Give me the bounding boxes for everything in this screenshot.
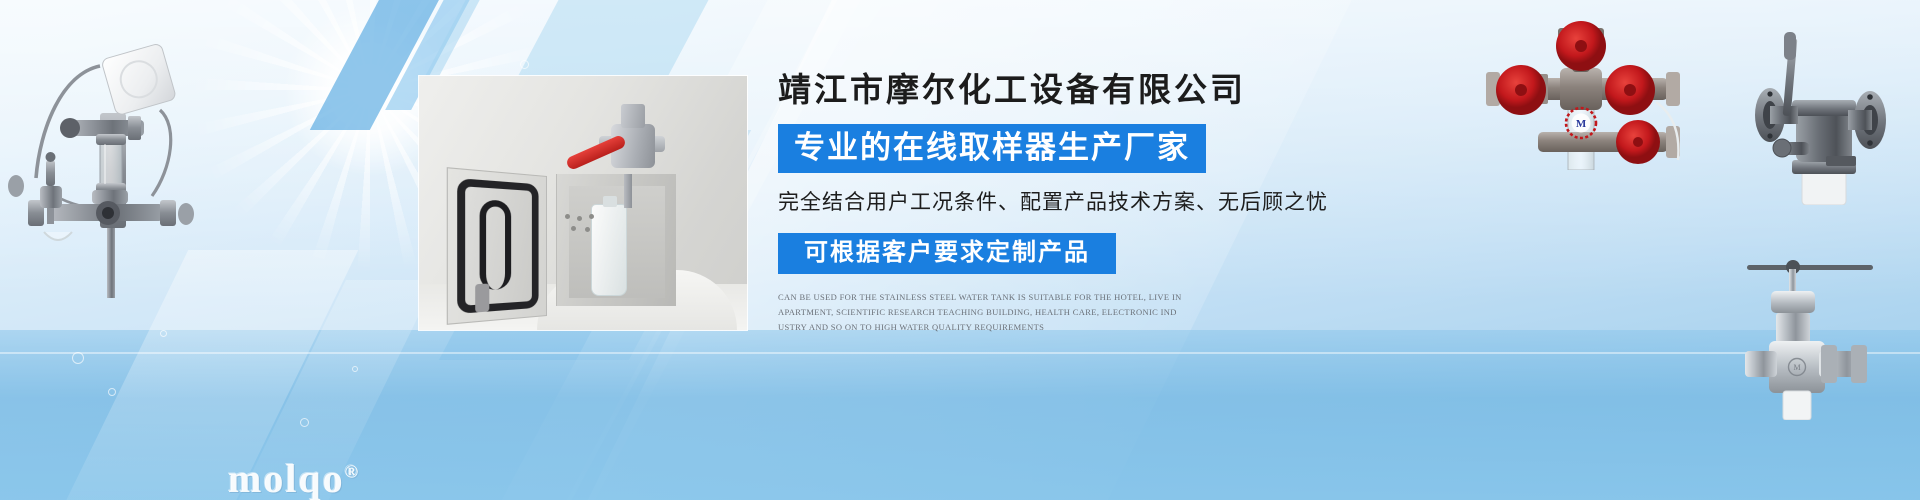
banner-text-block: 靖江市摩尔化工设备有限公司 专业的在线取样器生产厂家 完全结合用户工况条件、配置… bbox=[778, 72, 1398, 335]
cabinet-vent-holes bbox=[565, 214, 599, 234]
bubble-icon bbox=[520, 60, 529, 69]
sampler-cabinet-door bbox=[447, 167, 547, 325]
valve-top-cap bbox=[621, 104, 645, 128]
banner-subline: 完全结合用户工况条件、配置产品技术方案、无后顾之忧 bbox=[778, 189, 1398, 216]
english-description: CAN BE USED FOR THE STAINLESS STEEL WATE… bbox=[778, 290, 1182, 335]
promotional-banner: M bbox=[0, 0, 1920, 500]
water-horizon-line bbox=[0, 352, 1920, 354]
sampler-valve-head bbox=[597, 102, 667, 176]
brand-watermark: molqo® bbox=[228, 455, 360, 500]
svg-text:M: M bbox=[1576, 118, 1587, 130]
brand-watermark-text: molqo bbox=[228, 456, 345, 500]
door-latch bbox=[475, 284, 489, 313]
registered-trademark-icon: ® bbox=[345, 462, 360, 482]
equipment-flanged-lever-valve bbox=[1730, 20, 1920, 205]
tagline-primary-badge: 专业的在线取样器生产厂家 bbox=[778, 124, 1206, 174]
equipment-cross-valve-manifold: M bbox=[1480, 20, 1690, 170]
door-inner-hook bbox=[480, 199, 512, 290]
company-name: 靖江市摩尔化工设备有限公司 bbox=[778, 72, 1398, 112]
tagline-secondary-badge: 可根据客户要求定制产品 bbox=[778, 233, 1116, 275]
valve-stem bbox=[624, 174, 632, 208]
decor-stripe bbox=[423, 0, 501, 80]
product-photo bbox=[419, 76, 747, 330]
equipment-sampling-valve-assembly bbox=[0, 18, 200, 298]
